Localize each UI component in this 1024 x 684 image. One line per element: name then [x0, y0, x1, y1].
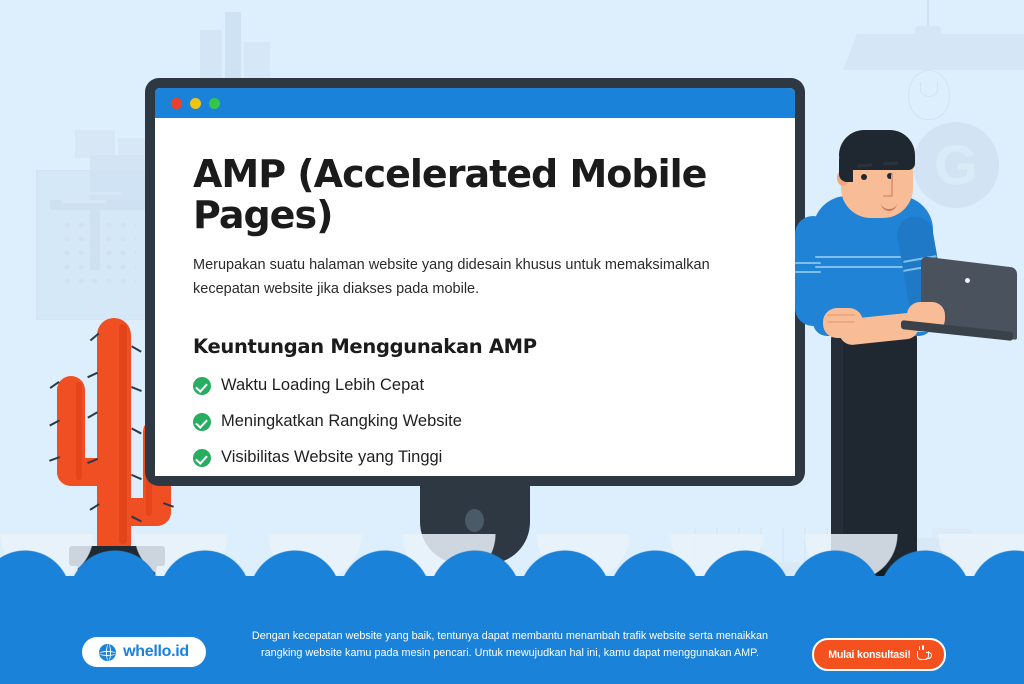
- cactus-spine: [131, 474, 142, 480]
- check-circle-icon: [193, 449, 211, 467]
- monitor-indicator-dot: [465, 509, 484, 532]
- lamp-shade-icon: [843, 34, 1024, 70]
- footer-description: Dengan kecepatan website yang baik, tent…: [250, 628, 770, 663]
- shelf-box-tiny: [118, 138, 146, 158]
- wave-crest: [0, 550, 1024, 596]
- building-antenna-dot: [228, 28, 238, 38]
- shelf-box-small: [75, 130, 115, 158]
- shelf-box-large: [90, 155, 150, 201]
- lamp-bulb-icon: [908, 70, 950, 120]
- lamp-filament: [920, 82, 938, 97]
- benefit-label: Visibilitas Website yang Tinggi: [221, 448, 442, 467]
- person-finger: [827, 321, 855, 323]
- calendar-panel: [36, 170, 148, 320]
- cactus-stem-shade: [119, 324, 127, 544]
- browser-window: AMP (Accelerated Mobile Pages) Merupakan…: [155, 88, 795, 476]
- page-title: AMP (Accelerated Mobile Pages): [193, 154, 755, 236]
- panel-line: [62, 192, 122, 195]
- brand-logo[interactable]: whello.id: [82, 637, 206, 667]
- cactus-left-arm-shade: [76, 382, 82, 480]
- cactus-spine: [131, 428, 141, 435]
- person-finger: [827, 314, 855, 316]
- laptop-camera-dot: [965, 278, 970, 283]
- person-nose: [891, 174, 893, 196]
- close-dot-icon[interactable]: [171, 98, 182, 109]
- shelf-leg: [90, 210, 100, 270]
- lamp-cord: [927, 0, 929, 34]
- slide-content: AMP (Accelerated Mobile Pages) Merupakan…: [155, 118, 795, 467]
- person-eye-left: [861, 174, 867, 180]
- check-circle-icon: [193, 413, 211, 431]
- minimize-dot-icon[interactable]: [190, 98, 201, 109]
- person-hair-side: [839, 152, 853, 182]
- list-item: Waktu Loading Lebih Cepat: [193, 376, 755, 395]
- maximize-dot-icon[interactable]: [209, 98, 220, 109]
- list-item: Meningkatkan Rangking Website: [193, 412, 755, 431]
- intro-paragraph: Merupakan suatu halaman website yang did…: [193, 254, 755, 301]
- benefit-label: Waktu Loading Lebih Cepat: [221, 376, 424, 395]
- cactus-spine: [131, 345, 141, 352]
- brand-logo-label: whello.id: [123, 643, 189, 661]
- globe-icon: [99, 644, 116, 661]
- infographic-canvas: G: [0, 0, 1024, 684]
- person-left-hand: [823, 308, 863, 338]
- list-item: Visibilitas Website yang Tinggi: [193, 448, 755, 467]
- check-circle-icon: [193, 377, 211, 395]
- coffee-cup-icon: [917, 649, 930, 660]
- benefits-list: Waktu Loading Lebih Cepat Meningkatkan R…: [193, 376, 755, 467]
- start-consultation-button[interactable]: Mulai konsultasi!: [812, 638, 946, 671]
- cactus-spine: [131, 386, 142, 392]
- calendar-dot-grid: [60, 218, 136, 290]
- panel-line-secondary: [62, 200, 106, 203]
- person-nose-base: [883, 195, 893, 197]
- browser-titlebar[interactable]: [155, 88, 795, 118]
- benefit-label: Meningkatkan Rangking Website: [221, 412, 462, 431]
- benefits-heading: Keuntungan Menggunakan AMP: [193, 335, 755, 358]
- lamp-cap: [915, 26, 941, 38]
- cta-label: Mulai konsultasi!: [828, 649, 911, 661]
